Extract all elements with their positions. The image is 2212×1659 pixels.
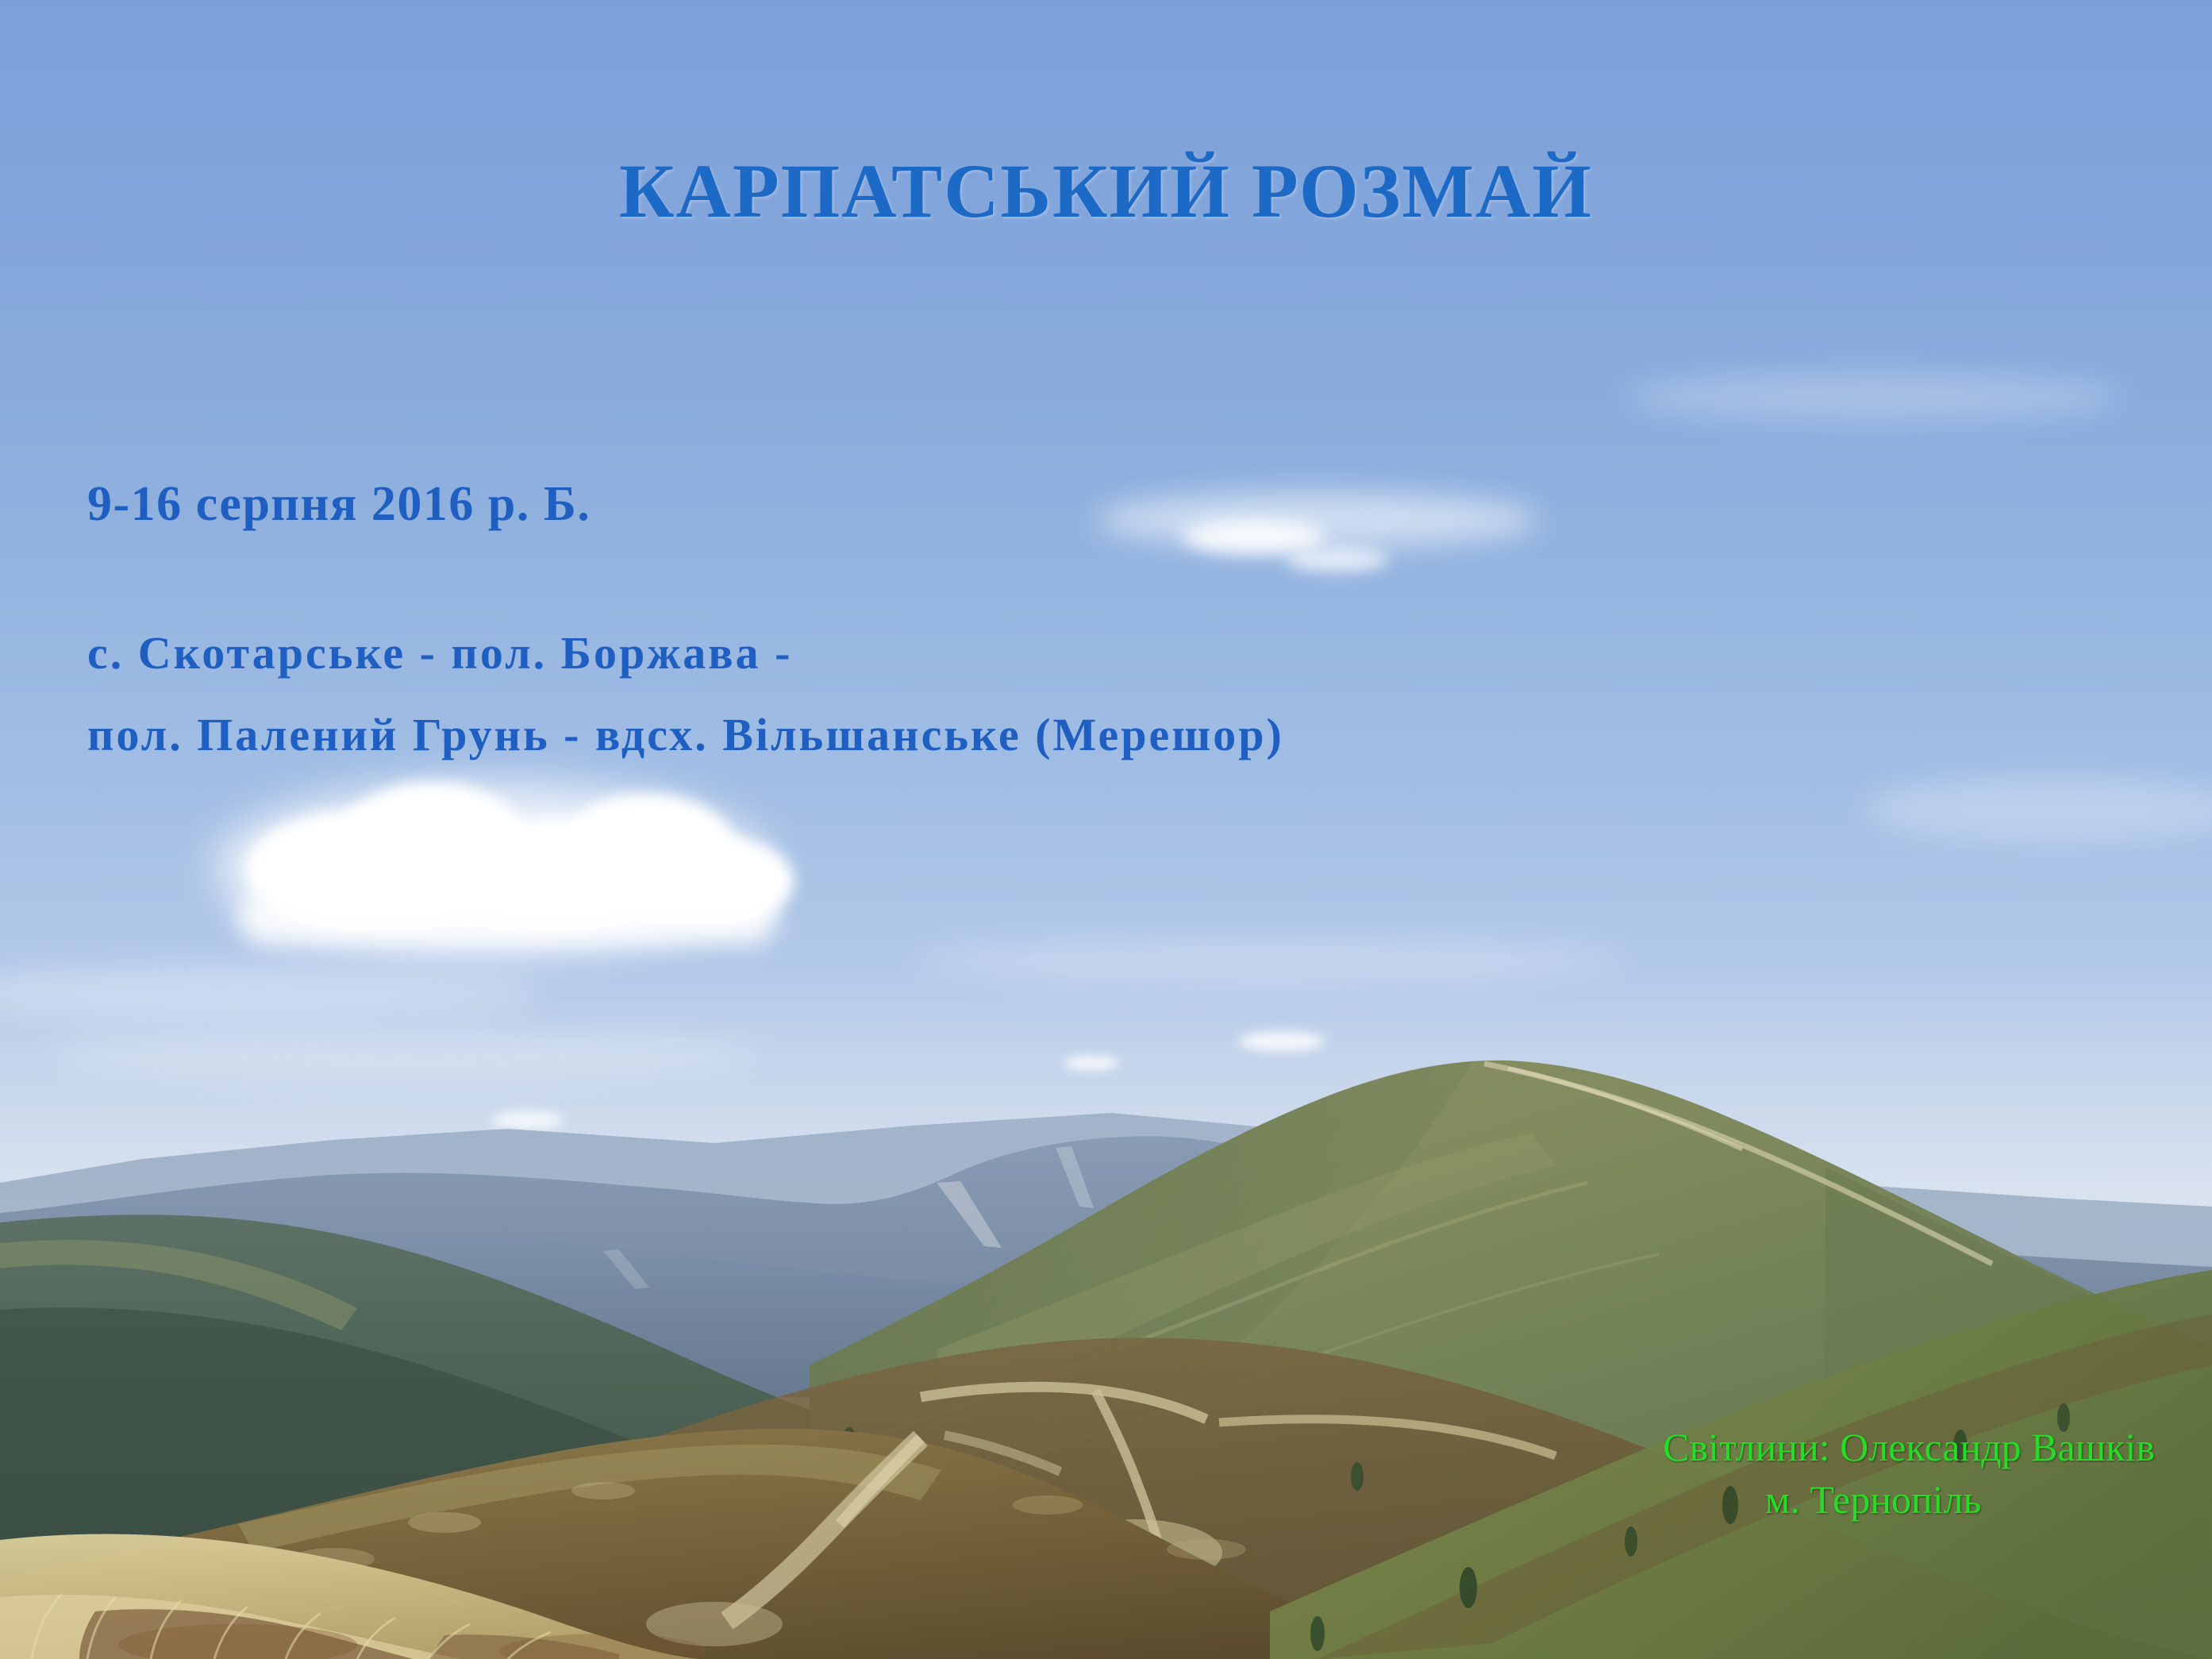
route-line-1: с. Скотарське - пол. Боржава - bbox=[87, 626, 1284, 679]
photo-credit-photographer: Світлини: Олександр Вашків bbox=[1663, 1421, 2155, 1473]
cirrus-wisp-right bbox=[1627, 373, 2119, 421]
presentation-slide: КАРПАТСЬКИЙ РОЗМАЙ 9-16 серпня 2016 р. Б… bbox=[0, 0, 2212, 1659]
photo-credit-city: м. Тернопіль bbox=[1663, 1473, 2155, 1526]
route-line-2: пол. Палений Грунь - вдсх. Вільшанське (… bbox=[87, 708, 1284, 761]
photo-credit-block: Світлини: Олександр Вашків м. Тернопіль bbox=[1663, 1421, 2155, 1526]
trip-info-block: 9-16 серпня 2016 р. Б. с. Скотарське - п… bbox=[87, 476, 1284, 790]
page-title: КАРПАТСЬКИЙ РОЗМАЙ bbox=[0, 147, 2212, 235]
cumulus-cloud-base bbox=[238, 889, 778, 945]
trip-date-line: 9-16 серпня 2016 р. Б. bbox=[87, 476, 1284, 533]
small-cloud-upper-right bbox=[1286, 548, 1389, 572]
